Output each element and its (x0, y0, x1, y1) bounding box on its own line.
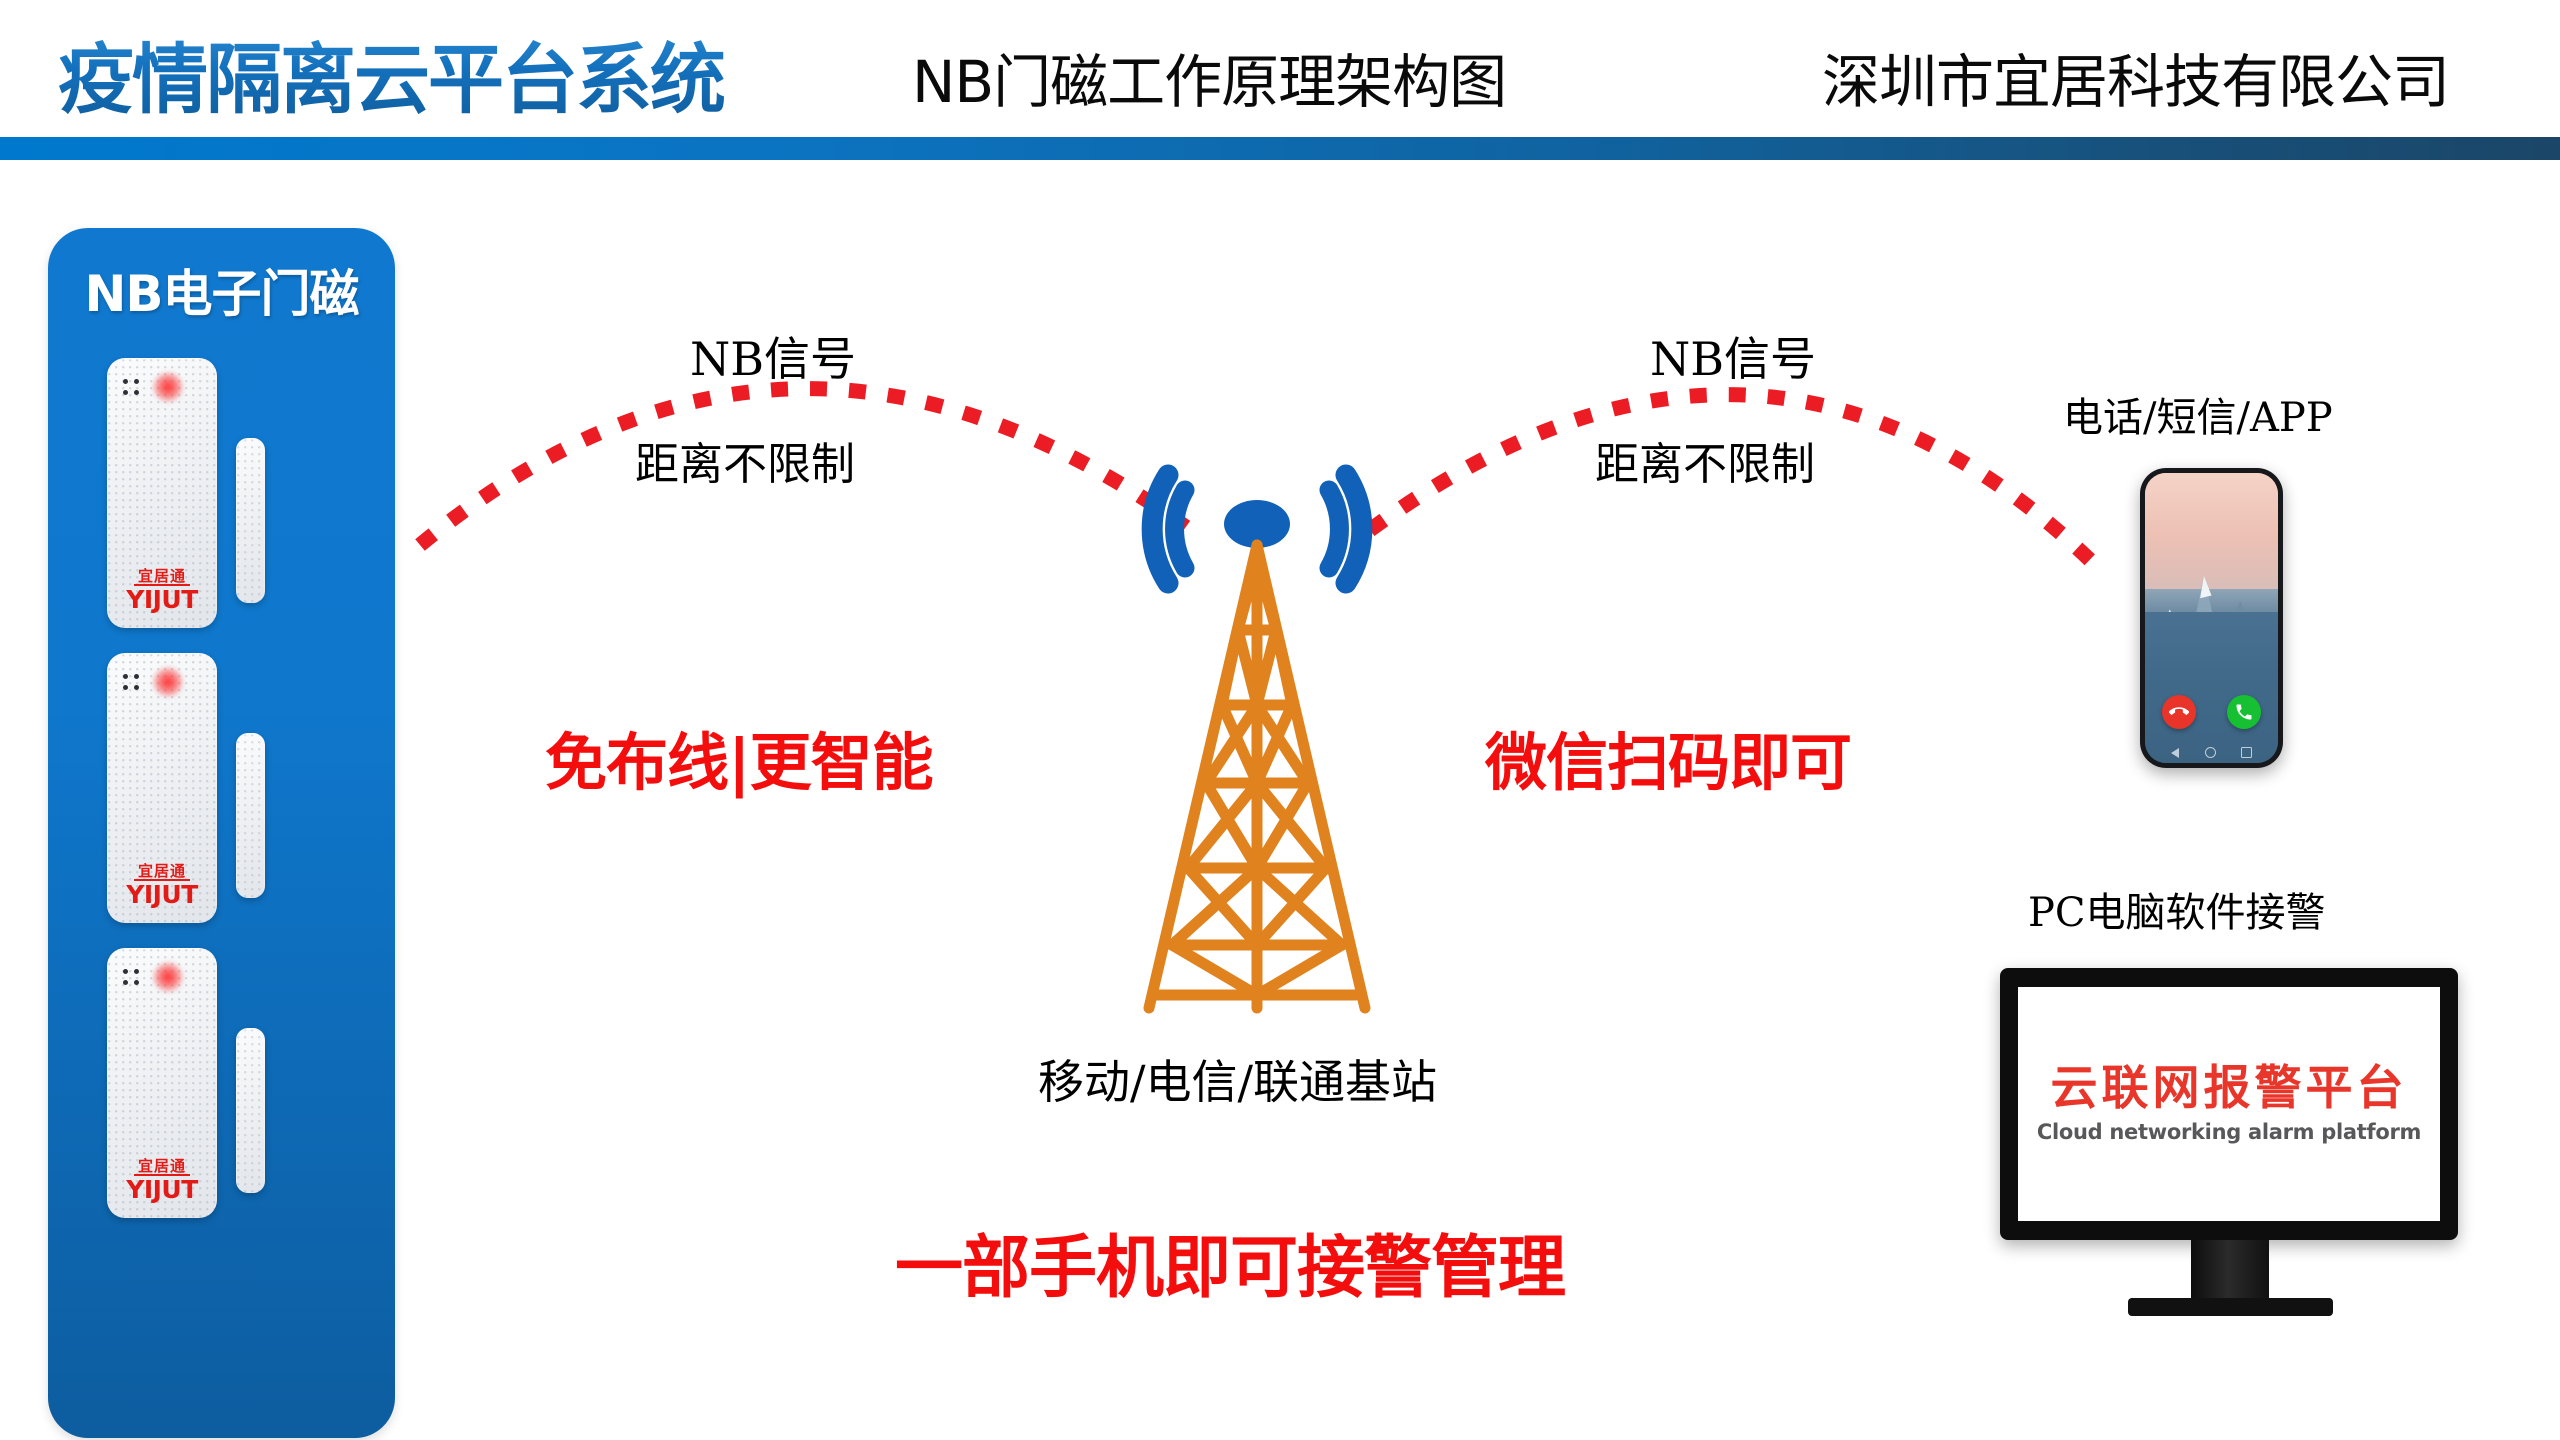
phone-wallpaper-water (2145, 612, 2278, 763)
monitor-stand-base (2128, 1298, 2333, 1316)
phone-screen (2145, 473, 2278, 763)
page-title: 疫情隔离云平台系统 (58, 18, 724, 128)
nb-distance-label-left: 距离不限制 (635, 428, 855, 492)
sensor-body: 宜居通 YIJUT (107, 948, 217, 1218)
door-sensor-unit: 宜居通 YIJUT (107, 653, 337, 923)
sensor-magnet-bar (236, 438, 265, 603)
sensor-magnet-bar (236, 733, 265, 898)
platform-title-en: Cloud networking alarm platform (2037, 1120, 2421, 1144)
sensor-logo-cn: 宜居通 (134, 1159, 190, 1176)
sensor-brand-logo: 宜居通 YIJUT (107, 1159, 217, 1202)
sensor-magnet-bar (236, 1028, 265, 1193)
led-indicator-icon (153, 962, 183, 992)
led-indicator-icon (153, 372, 183, 402)
page-header: 疫情隔离云平台系统 NB门磁工作原理架构图 深圳市宜居科技有限公司 (0, 0, 2560, 160)
sensor-vent-dots-icon (123, 674, 140, 691)
page-subtitle: NB门磁工作原理架构图 (912, 35, 1506, 119)
callout-left: 免布线|更智能 (545, 712, 933, 802)
door-sensor-unit: 宜居通 YIJUT (107, 358, 337, 628)
phone-channel-label: 电话/短信/APP (2063, 385, 2333, 443)
device-panel-title: NB电子门磁 (48, 254, 395, 326)
nb-signal-label-right: NB信号 (1650, 323, 1816, 389)
sensor-vent-dots-icon (123, 379, 140, 396)
accept-call-button[interactable] (2227, 695, 2261, 729)
callout-right: 微信扫码即可 (1485, 712, 1851, 802)
nav-back-icon[interactable] (2171, 748, 2179, 758)
sensor-logo-cn: 宜居通 (134, 864, 190, 881)
base-station-label: 移动/电信/联通基站 (1038, 1046, 1437, 1112)
pc-monitor-mockup: 云联网报警平台 Cloud networking alarm platform (2000, 968, 2458, 1240)
nb-distance-label-right: 距离不限制 (1595, 428, 1815, 492)
callout-bottom: 一部手机即可接警管理 (895, 1212, 1565, 1311)
nav-home-icon[interactable] (2205, 747, 2216, 758)
cell-tower-icon (1149, 475, 1365, 1008)
decline-call-button[interactable] (2162, 695, 2196, 729)
sensor-logo-en: YIJUT (107, 587, 217, 612)
sensor-body: 宜居通 YIJUT (107, 358, 217, 628)
pc-software-label: PC电脑软件接警 (2028, 880, 2326, 938)
nav-recent-icon[interactable] (2241, 747, 2252, 758)
sensor-body: 宜居通 YIJUT (107, 653, 217, 923)
smartphone-mockup (2140, 468, 2283, 768)
sensor-brand-logo: 宜居通 YIJUT (107, 864, 217, 907)
sensor-logo-en: YIJUT (107, 882, 217, 907)
sensor-brand-logo: 宜居通 YIJUT (107, 569, 217, 612)
platform-title-cn: 云联网报警平台 (2051, 1064, 2408, 1113)
sensor-logo-cn: 宜居通 (134, 569, 190, 586)
monitor-stand-neck (2191, 1240, 2269, 1302)
header-divider-bar (0, 137, 2560, 160)
sensor-logo-en: YIJUT (107, 1177, 217, 1202)
monitor-screen: 云联网报警平台 Cloud networking alarm platform (2018, 987, 2440, 1221)
door-sensor-unit: 宜居通 YIJUT (107, 948, 337, 1218)
nb-signal-label-left: NB信号 (690, 323, 856, 389)
sensor-vent-dots-icon (123, 969, 140, 986)
led-indicator-icon (153, 667, 183, 697)
phone-handset-icon (2234, 702, 2254, 722)
phone-status-bar (2151, 476, 2272, 485)
phone-decline-icon (2169, 702, 2189, 722)
phone-navigation-bar[interactable] (2145, 747, 2278, 758)
company-name: 深圳市宜居科技有限公司 (1822, 35, 2449, 119)
nb-door-sensor-panel: NB电子门磁 宜居通 YIJUT 宜居通 YIJUT (48, 228, 395, 1438)
